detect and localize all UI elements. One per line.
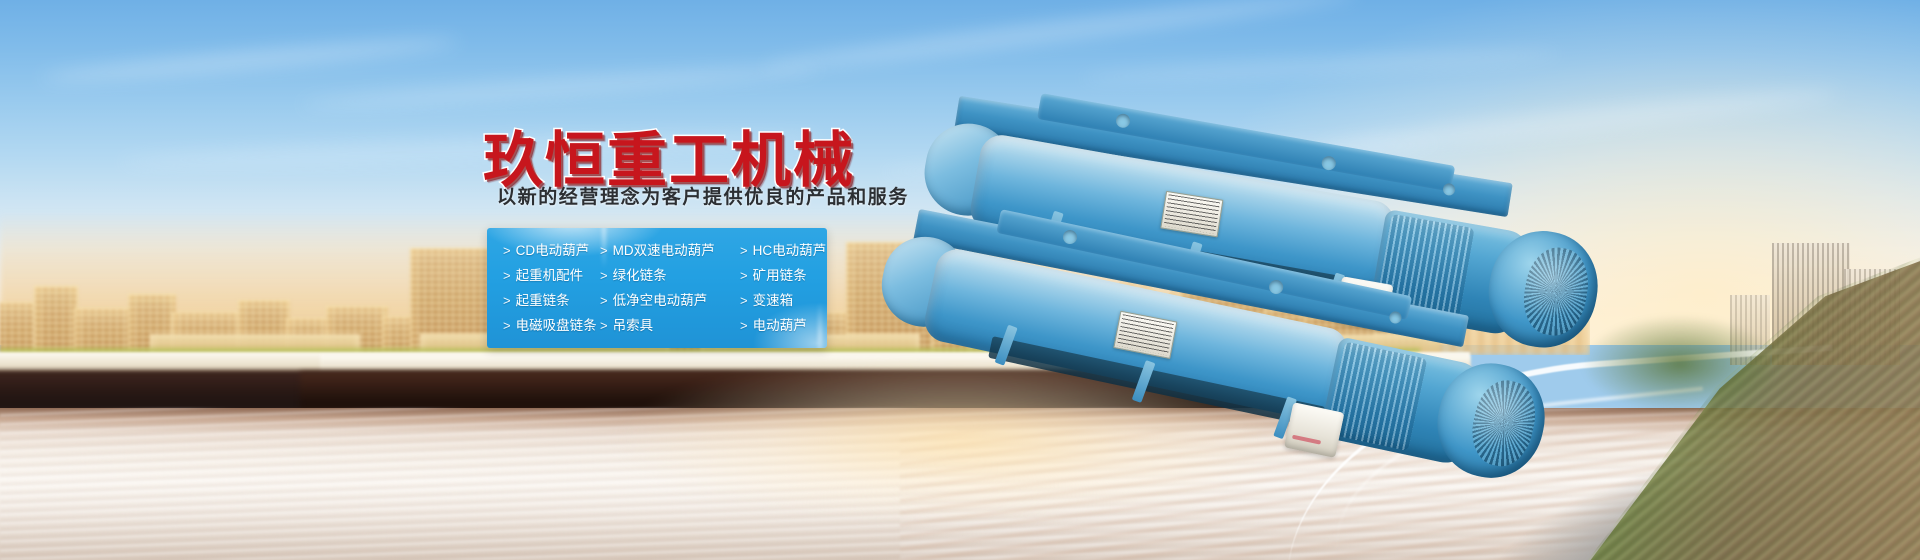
product-link-label: 变速箱	[753, 294, 794, 308]
chevron-right-icon: >	[600, 319, 608, 332]
chevron-right-icon: >	[740, 244, 748, 257]
product-link-label: 起重机配件	[516, 269, 584, 283]
hero-banner: 玖恒重工机械 以新的经营理念为客户提供优良的产品和服务 > CD电动葫芦 > M…	[0, 0, 1920, 560]
chevron-right-icon: >	[503, 294, 511, 307]
product-link-label: 矿用链条	[753, 269, 807, 283]
product-link-label: HC电动葫芦	[753, 244, 827, 258]
product-link-label: CD电动葫芦	[516, 244, 590, 258]
product-category-panel: > CD电动葫芦 > MD双速电动葫芦 > HC电动葫芦 > 起重机配件 > 绿…	[487, 228, 827, 348]
chevron-right-icon: >	[503, 269, 511, 282]
chevron-right-icon: >	[600, 269, 608, 282]
product-link-magnetic-chuck-chain[interactable]: > 电磁吸盘链条	[503, 319, 600, 333]
product-link-mining-chain[interactable]: > 矿用链条	[740, 269, 827, 283]
product-link-label: 吊索具	[613, 319, 654, 333]
product-link-electric-hoist[interactable]: > 电动葫芦	[740, 319, 827, 333]
electric-hoist-product-image	[865, 58, 1920, 433]
chevron-right-icon: >	[600, 294, 608, 307]
product-link-greening-chain[interactable]: > 绿化链条	[600, 269, 740, 283]
product-link-label: 起重链条	[516, 294, 570, 308]
product-link-label: 绿化链条	[613, 269, 667, 283]
product-category-list: > CD电动葫芦 > MD双速电动葫芦 > HC电动葫芦 > 起重机配件 > 绿…	[487, 228, 827, 338]
product-link-label: 低净空电动葫芦	[613, 294, 708, 308]
page-subtitle: 以新的经营理念为客户提供优良的产品和服务	[497, 182, 909, 209]
product-link-low-headroom-hoist[interactable]: > 低净空电动葫芦	[600, 294, 740, 308]
product-link-crane-parts[interactable]: > 起重机配件	[503, 269, 600, 283]
product-link-lifting-chain[interactable]: > 起重链条	[503, 294, 600, 308]
junction-box	[1284, 402, 1344, 458]
chevron-right-icon: >	[740, 294, 748, 307]
chevron-right-icon: >	[503, 244, 511, 257]
product-link-slings[interactable]: > 吊索具	[600, 319, 740, 333]
chevron-right-icon: >	[740, 269, 748, 282]
product-link-gearbox[interactable]: > 变速箱	[740, 294, 827, 308]
chevron-right-icon: >	[503, 319, 511, 332]
product-link-hc-electric-hoist[interactable]: > HC电动葫芦	[740, 244, 827, 258]
product-link-label: 电动葫芦	[753, 319, 807, 333]
product-link-label: MD双速电动葫芦	[613, 244, 715, 258]
chevron-right-icon: >	[740, 319, 748, 332]
chevron-right-icon: >	[600, 244, 608, 257]
product-link-label: 电磁吸盘链条	[516, 319, 597, 333]
product-link-cd-electric-hoist[interactable]: > CD电动葫芦	[503, 244, 600, 258]
product-link-md-dual-speed-hoist[interactable]: > MD双速电动葫芦	[600, 244, 740, 258]
